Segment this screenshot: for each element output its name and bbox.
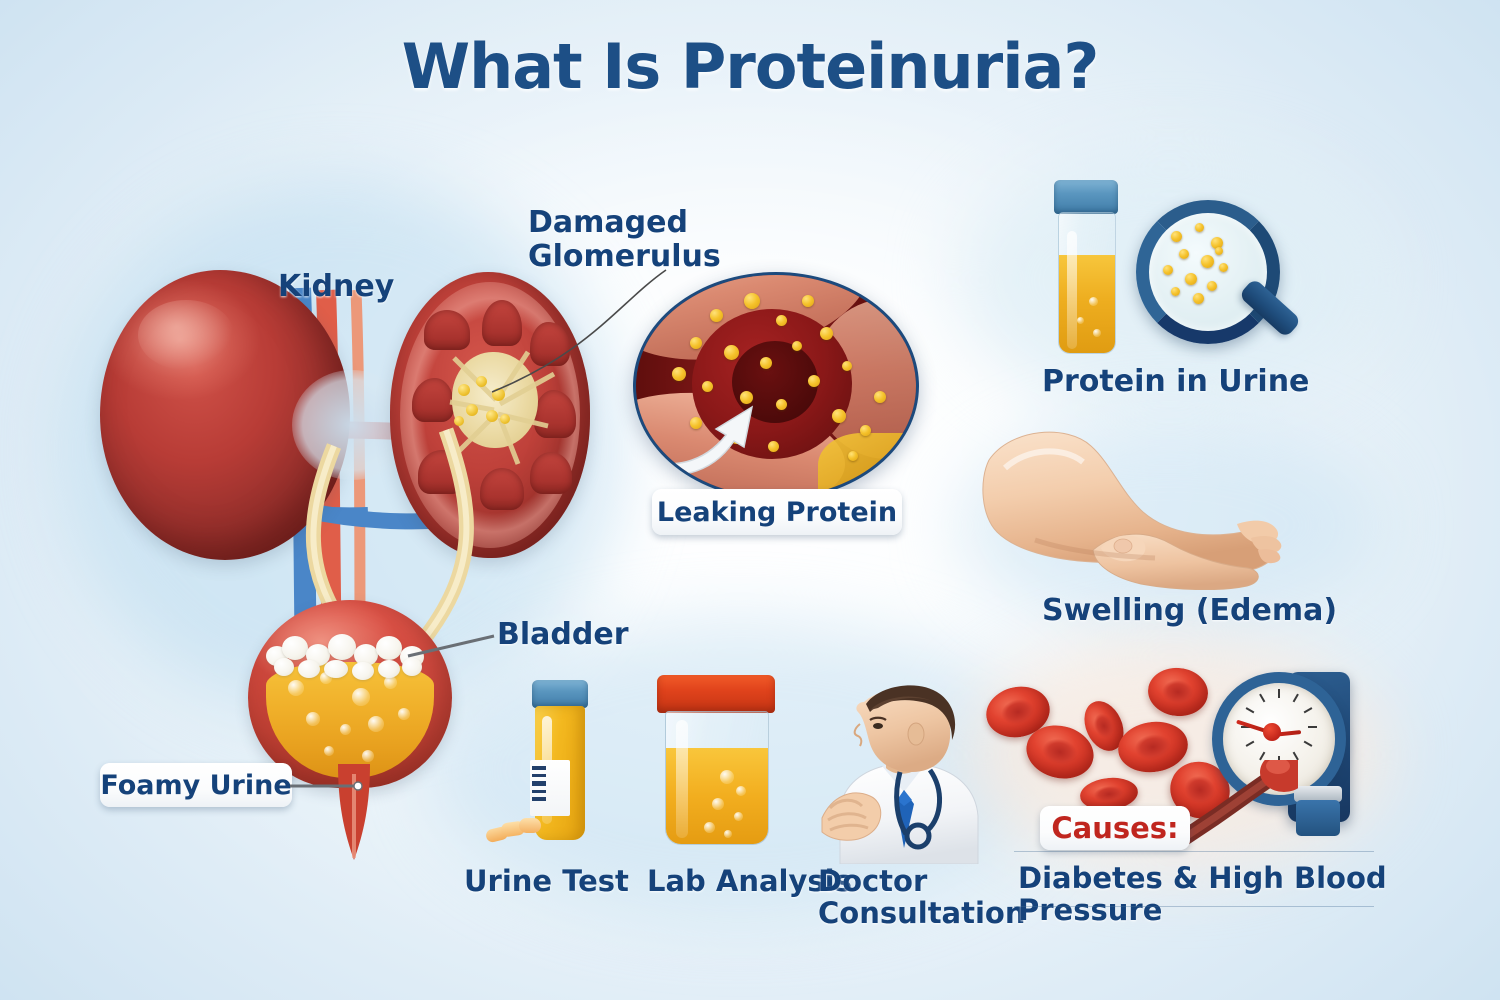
- renal-pyramid: [530, 452, 572, 494]
- leaking-arrow-icon: [640, 385, 770, 481]
- red-blood-cell: [1146, 665, 1211, 719]
- label-doctor-consultation: Doctor Consultation: [818, 865, 1026, 930]
- infographic-poster: What Is Proteinuria?: [0, 0, 1500, 1000]
- test-pills: [486, 818, 546, 844]
- kidney-highlight: [138, 300, 234, 370]
- label-protein-in-urine: Protein in Urine: [1042, 365, 1309, 399]
- chip-foamy-urine: Foamy Urine: [100, 763, 292, 807]
- barcode-line: [532, 781, 546, 786]
- urine-test-bottle-icon: [532, 680, 588, 708]
- doctor-icon: [800, 668, 990, 864]
- label-urine-test: Urine Test: [464, 865, 629, 897]
- barcode-line: [532, 790, 546, 793]
- causes-rule-bottom: [1014, 906, 1374, 907]
- barcode-line: [532, 766, 546, 770]
- urine-foam: [262, 630, 440, 678]
- specimen-jar-icon: [657, 675, 775, 713]
- bp-needle-hub: [1263, 723, 1281, 741]
- chip-causes: Causes:: [1040, 806, 1190, 850]
- page-title: What Is Proteinuria?: [0, 30, 1500, 103]
- chip-leaking-protein: Leaking Protein: [652, 489, 902, 535]
- label-kidney: Kidney: [278, 270, 394, 304]
- renal-pyramid: [480, 468, 524, 510]
- label-swelling-edema: Swelling (Edema): [1042, 594, 1337, 628]
- damaged-glomeruli-cluster: [452, 374, 516, 436]
- vial-body: [1058, 212, 1116, 354]
- bp-valve: [1296, 800, 1340, 836]
- specimen-jar-body: [665, 711, 769, 845]
- glomerulus-magnified-icon: [633, 272, 919, 500]
- renal-pyramid: [418, 450, 464, 494]
- causes-rule-top: [1014, 851, 1374, 852]
- label-damaged-glomerulus: Damaged Glomerulus: [528, 206, 721, 273]
- label-bladder: Bladder: [497, 618, 628, 652]
- barcode-line: [532, 797, 546, 801]
- barcode-line: [532, 774, 546, 777]
- renal-pyramid: [412, 378, 454, 422]
- urine-sample-vial-icon: [1054, 180, 1118, 214]
- renal-pyramid: [424, 310, 470, 350]
- label-causes-detail: Diabetes & High Blood Pressure: [1018, 862, 1500, 927]
- swollen-foot-icon: [975, 420, 1305, 590]
- magnifying-glass-icon: [1136, 200, 1280, 344]
